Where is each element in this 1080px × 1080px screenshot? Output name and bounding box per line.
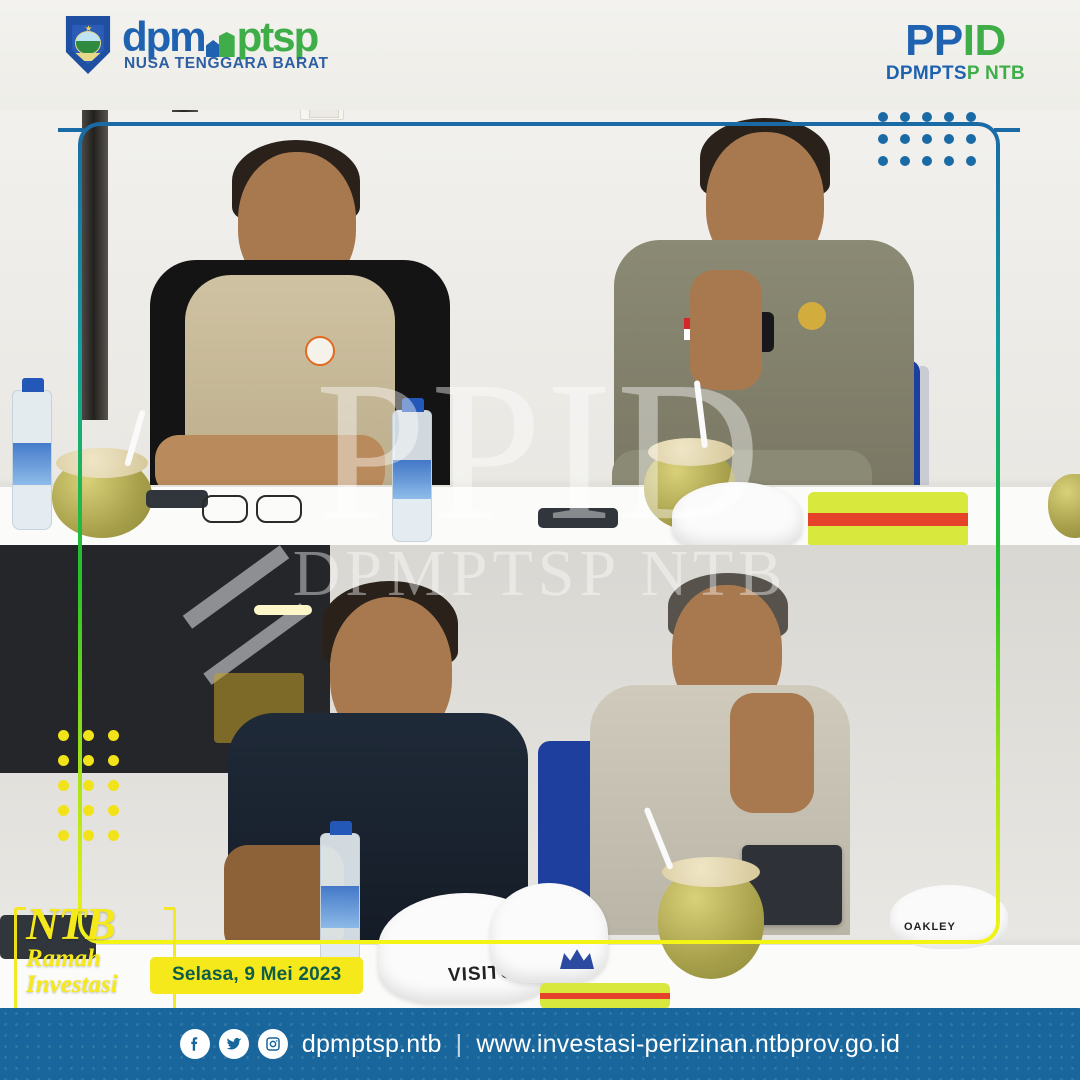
ppid-wordmark-id: ID <box>963 16 1006 65</box>
footer-contact: dpmptsp.ntb | www.investasi-perizinan.nt… <box>302 1030 900 1059</box>
eyeglasses <box>202 495 302 521</box>
dot <box>58 755 69 766</box>
dot <box>108 755 119 766</box>
brand-wordmark-dpm: dpm <box>122 17 205 57</box>
dot-grid-yellow <box>58 730 119 841</box>
dot <box>922 112 932 122</box>
oakley-cap-label: OAKLEY <box>904 921 956 933</box>
coconut-top <box>662 857 760 887</box>
dot <box>83 755 94 766</box>
dot-grid-blue <box>878 112 976 166</box>
dot <box>900 112 910 122</box>
frame-tick-left <box>58 128 84 132</box>
dot <box>966 112 976 122</box>
doorframe-edge <box>82 90 108 420</box>
water-bottle-center <box>392 410 432 542</box>
dot <box>900 156 910 166</box>
ppid-wordmark: PPID <box>886 20 1025 62</box>
dot <box>966 134 976 144</box>
ntb-ramah-investasi-mark: NTB Ramah Investasi <box>26 903 118 998</box>
dot <box>922 156 932 166</box>
dot <box>83 830 94 841</box>
ppid-subtitle-dpmpts: DPMPTS <box>886 63 967 84</box>
ntb-mark-line1: Ramah <box>26 946 118 972</box>
vest-badge-icon <box>305 336 335 366</box>
ppid-wordmark-pp: PP <box>905 16 963 65</box>
date-badge: Selasa, 9 Mei 2023 <box>150 957 363 994</box>
dot <box>58 805 69 816</box>
coconut-top <box>56 448 148 478</box>
twitter-icon[interactable] <box>219 1029 249 1059</box>
crest-landscape-icon <box>75 31 101 55</box>
dot <box>966 156 976 166</box>
frame-tick-right <box>994 128 1020 132</box>
dot <box>83 730 94 741</box>
footer-bar: dpmptsp.ntb | www.investasi-perizinan.nt… <box>0 1008 1080 1080</box>
dot <box>944 156 954 166</box>
dot <box>108 780 119 791</box>
dot <box>108 830 119 841</box>
photo-collage: VISITOR OAKLEY <box>0 90 1080 1010</box>
ceiling-light <box>254 605 312 615</box>
coconut-top <box>648 438 734 466</box>
ppid-logo: PPID DPMPTSP NTB <box>886 20 1025 85</box>
social-links <box>180 1029 288 1059</box>
facebook-icon[interactable] <box>180 1029 210 1059</box>
dot <box>878 112 888 122</box>
dot <box>878 156 888 166</box>
building-icon <box>206 30 236 57</box>
brand-logo: dpm ptsp NUSA TENGGARA BARAT <box>64 16 329 74</box>
dot <box>83 780 94 791</box>
brand-text: dpm ptsp NUSA TENGGARA BARAT <box>122 17 329 73</box>
arm-raised <box>690 270 762 390</box>
dot <box>878 134 888 144</box>
safety-vest <box>808 492 968 545</box>
smartphone <box>146 490 208 508</box>
dot <box>900 134 910 144</box>
dot <box>944 134 954 144</box>
hard-hat-top <box>672 482 802 545</box>
dot <box>58 830 69 841</box>
poster-canvas: VISITOR OAKLEY PPID DPMPTSP NTB <box>0 0 1080 1080</box>
water-bottle-far-left <box>12 390 52 530</box>
ntb-mark-title: NTB <box>26 903 118 944</box>
ntb-crest-icon <box>64 16 112 74</box>
instagram-icon[interactable] <box>258 1029 288 1059</box>
dot <box>108 730 119 741</box>
uniform-emblem-icon <box>798 302 826 330</box>
ppid-subtitle: DPMPTSP NTB <box>886 63 1025 85</box>
tablet-flat <box>538 508 618 528</box>
dot <box>944 112 954 122</box>
water-bottle-bottom <box>320 833 360 973</box>
dot <box>58 730 69 741</box>
footer-website[interactable]: www.investasi-perizinan.ntbprov.go.id <box>476 1030 900 1059</box>
brand-subtitle: NUSA TENGGARA BARAT <box>122 55 329 73</box>
dot <box>83 805 94 816</box>
dot <box>922 134 932 144</box>
footer-separator: | <box>456 1030 463 1059</box>
crest-inner <box>70 24 106 66</box>
ppid-subtitle-pntb: P NTB <box>967 63 1025 84</box>
arm-clasped <box>730 693 814 813</box>
photo-bottom: VISITOR OAKLEY <box>0 545 1080 1010</box>
brand-wordmark: dpm ptsp <box>122 17 329 57</box>
crest-ribbon-icon <box>74 53 102 61</box>
dot <box>58 780 69 791</box>
dot <box>108 805 119 816</box>
footer-handle[interactable]: dpmptsp.ntb <box>302 1030 442 1059</box>
safety-vest-bottom <box>540 983 670 1009</box>
brand-wordmark-ptsp: ptsp <box>237 17 318 57</box>
ntb-mark-line2: Investasi <box>26 972 118 998</box>
oakley-cap <box>890 885 1008 949</box>
